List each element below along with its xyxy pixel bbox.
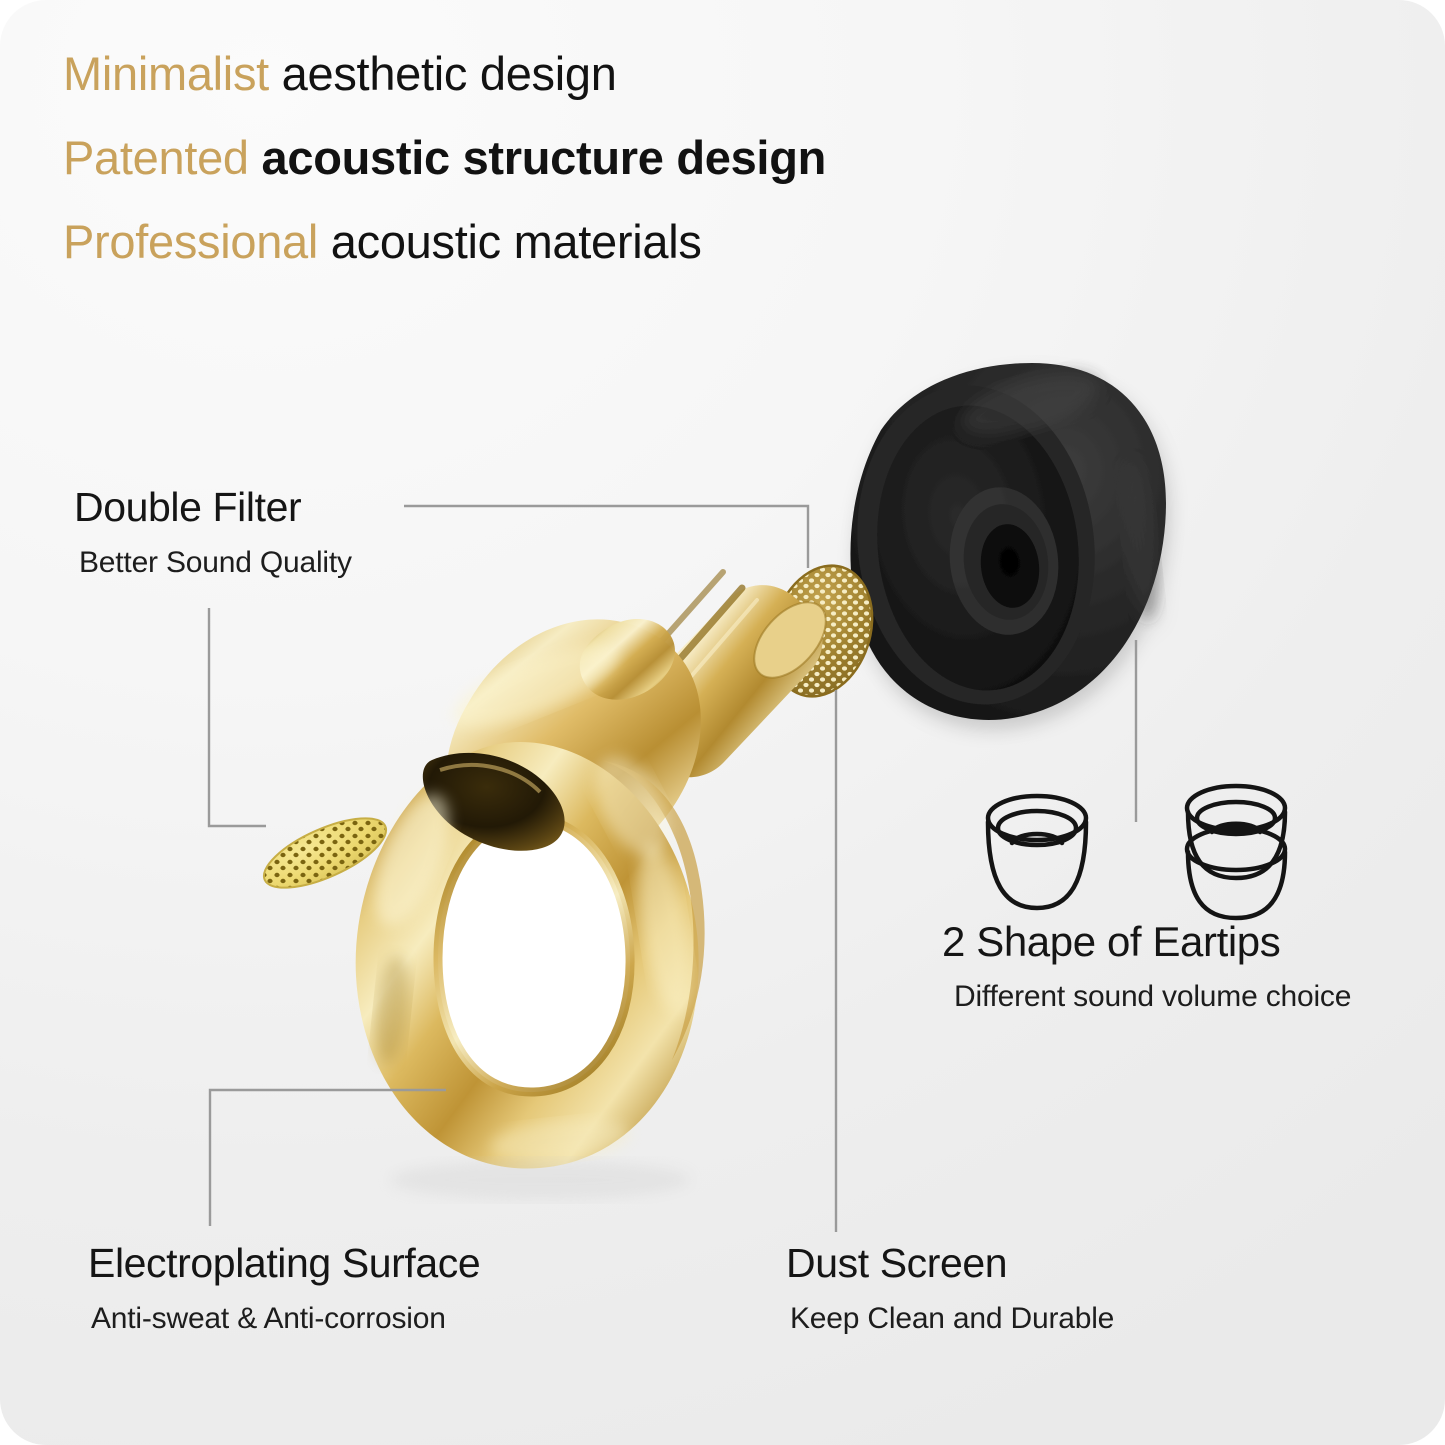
eartip-graphic xyxy=(839,359,1166,720)
electroplating-subtitle: Anti-sweat & Anti-corrosion xyxy=(91,1302,480,1336)
callout-eartips: 2 Shape of Eartips Different sound volum… xyxy=(942,918,1351,1014)
callout-double-filter: Double Filter Better Sound Quality xyxy=(74,484,352,580)
infographic-canvas: Minimalist aesthetic design Patented aco… xyxy=(0,0,1445,1445)
eartip-icon-stacked xyxy=(1187,786,1285,918)
double-filter-title: Double Filter xyxy=(74,484,352,531)
eartip-icon-single xyxy=(988,796,1086,908)
callout-dust-screen: Dust Screen Keep Clean and Durable xyxy=(786,1240,1114,1336)
dust-screen-title: Dust Screen xyxy=(786,1240,1114,1287)
product-illustration xyxy=(0,0,1445,1445)
product-contact-shadow xyxy=(390,1160,690,1200)
electroplating-title: Electroplating Surface xyxy=(88,1240,480,1287)
eartips-subtitle: Different sound volume choice xyxy=(954,980,1351,1014)
callout-electroplating: Electroplating Surface Anti-sweat & Anti… xyxy=(88,1240,480,1336)
eartips-title: 2 Shape of Eartips xyxy=(942,918,1351,966)
double-filter-subtitle: Better Sound Quality xyxy=(79,546,352,580)
earbud-body-graphic xyxy=(356,572,840,1169)
dust-screen-subtitle: Keep Clean and Durable xyxy=(790,1302,1114,1336)
